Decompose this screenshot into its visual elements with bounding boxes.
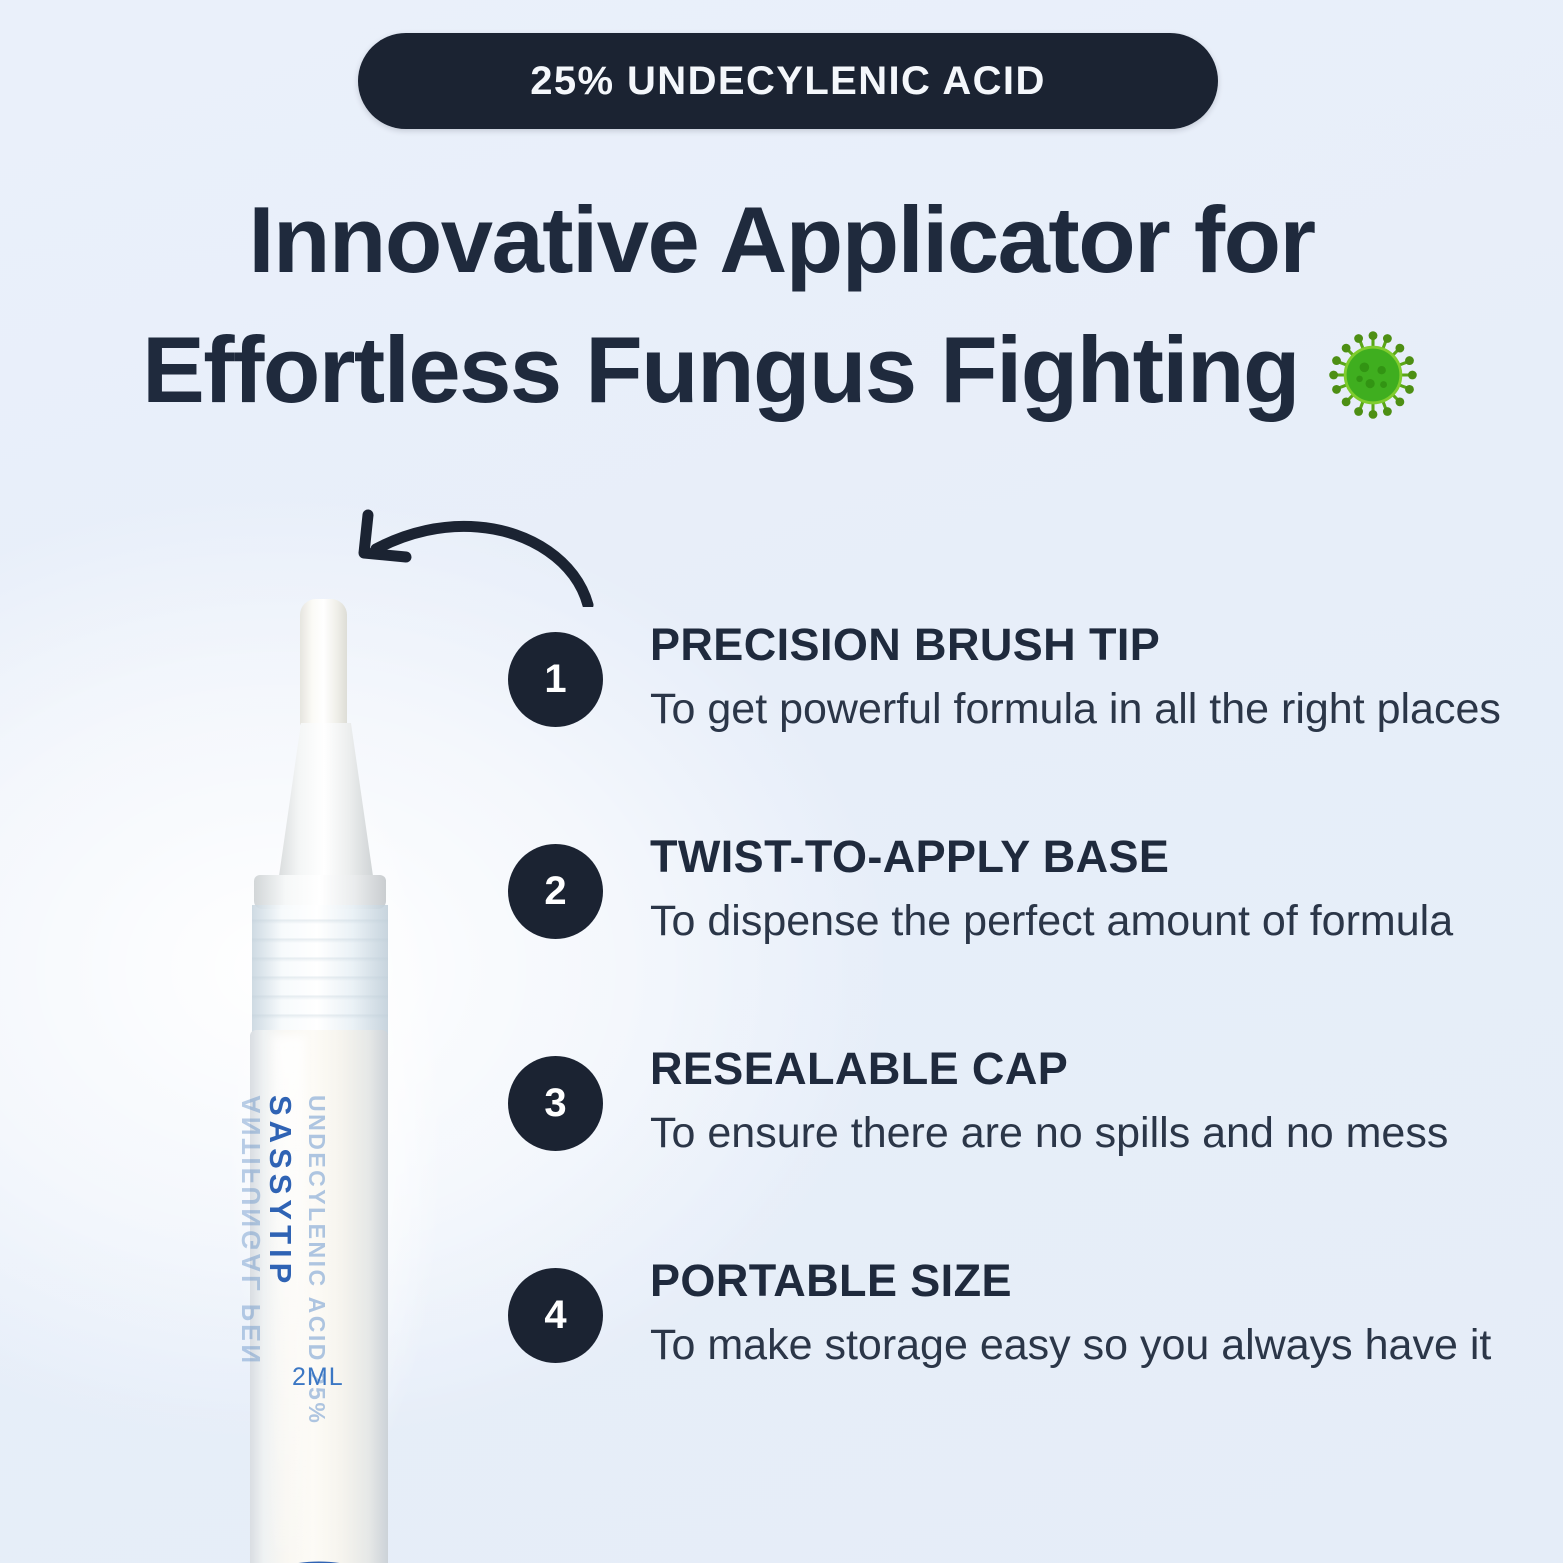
feature-title-4: PORTABLE SIZE <box>650 1254 1491 1307</box>
headline-line-1: Innovative Applicator for <box>0 175 1563 305</box>
feature-list: 1 PRECISION BRUSH TIP To get powerful fo… <box>508 612 1518 1460</box>
feature-title-1: PRECISION BRUSH TIP <box>650 618 1501 671</box>
feature-number-badge-4: 4 <box>508 1268 603 1363</box>
ingredient-badge-label: 25% UNDECYLENIC ACID <box>530 59 1045 104</box>
feature-desc-3: To ensure there are no spills and no mes… <box>650 1107 1448 1159</box>
pen-subtitle-label: UNDECYLENIC ACID 25% <box>303 1095 330 1395</box>
headline-line-2-row: Effortless Fungus Fighting <box>0 305 1563 435</box>
pen-clear-section <box>252 905 388 1035</box>
product-image: ANTIFUNGAL PEN UNDECYLENIC ACID 25% SASS… <box>180 575 480 1563</box>
pen-shoulder-cone <box>278 723 374 883</box>
feature-title-3: RESEALABLE CAP <box>650 1042 1448 1095</box>
feature-item-2: 2 TWIST-TO-APPLY BASE To dispense the pe… <box>508 824 1518 1036</box>
feature-text-1: PRECISION BRUSH TIP To get powerful form… <box>603 612 1501 736</box>
infographic-page: 25% UNDECYLENIC ACID Innovative Applicat… <box>0 0 1563 1563</box>
pen-brush-tip <box>300 599 347 727</box>
pen-brand-label: SASSYTIP <box>262 1095 298 1355</box>
feature-title-2: TWIST-TO-APPLY BASE <box>650 830 1453 883</box>
ingredient-badge: 25% UNDECYLENIC ACID <box>358 33 1218 129</box>
feature-desc-4: To make storage easy so you always have … <box>650 1319 1491 1371</box>
feature-item-1: 1 PRECISION BRUSH TIP To get powerful fo… <box>508 612 1518 824</box>
feature-text-4: PORTABLE SIZE To make storage easy so yo… <box>603 1248 1491 1372</box>
feature-text-3: RESEALABLE CAP To ensure there are no sp… <box>603 1036 1448 1160</box>
page-title: Innovative Applicator for Effortless Fun… <box>0 175 1563 434</box>
feature-text-2: TWIST-TO-APPLY BASE To dispense the perf… <box>603 824 1453 948</box>
feature-desc-2: To dispense the perfect amount of formul… <box>650 895 1453 947</box>
feature-item-3: 3 RESEALABLE CAP To ensure there are no … <box>508 1036 1518 1248</box>
microbe-icon <box>1325 326 1421 422</box>
feature-number-badge-3: 3 <box>508 1056 603 1151</box>
pen-volume-label: 2ML <box>292 1363 344 1392</box>
feature-number-badge-2: 2 <box>508 844 603 939</box>
headline-line-2: Effortless Fungus Fighting <box>142 305 1299 435</box>
pen-collar-ring <box>254 875 386 909</box>
feature-number-badge-1: 1 <box>508 632 603 727</box>
pen-base-arc <box>250 1527 388 1563</box>
feature-item-4: 4 PORTABLE SIZE To make storage easy so … <box>508 1248 1518 1460</box>
feature-desc-1: To get powerful formula in all the right… <box>650 683 1501 735</box>
